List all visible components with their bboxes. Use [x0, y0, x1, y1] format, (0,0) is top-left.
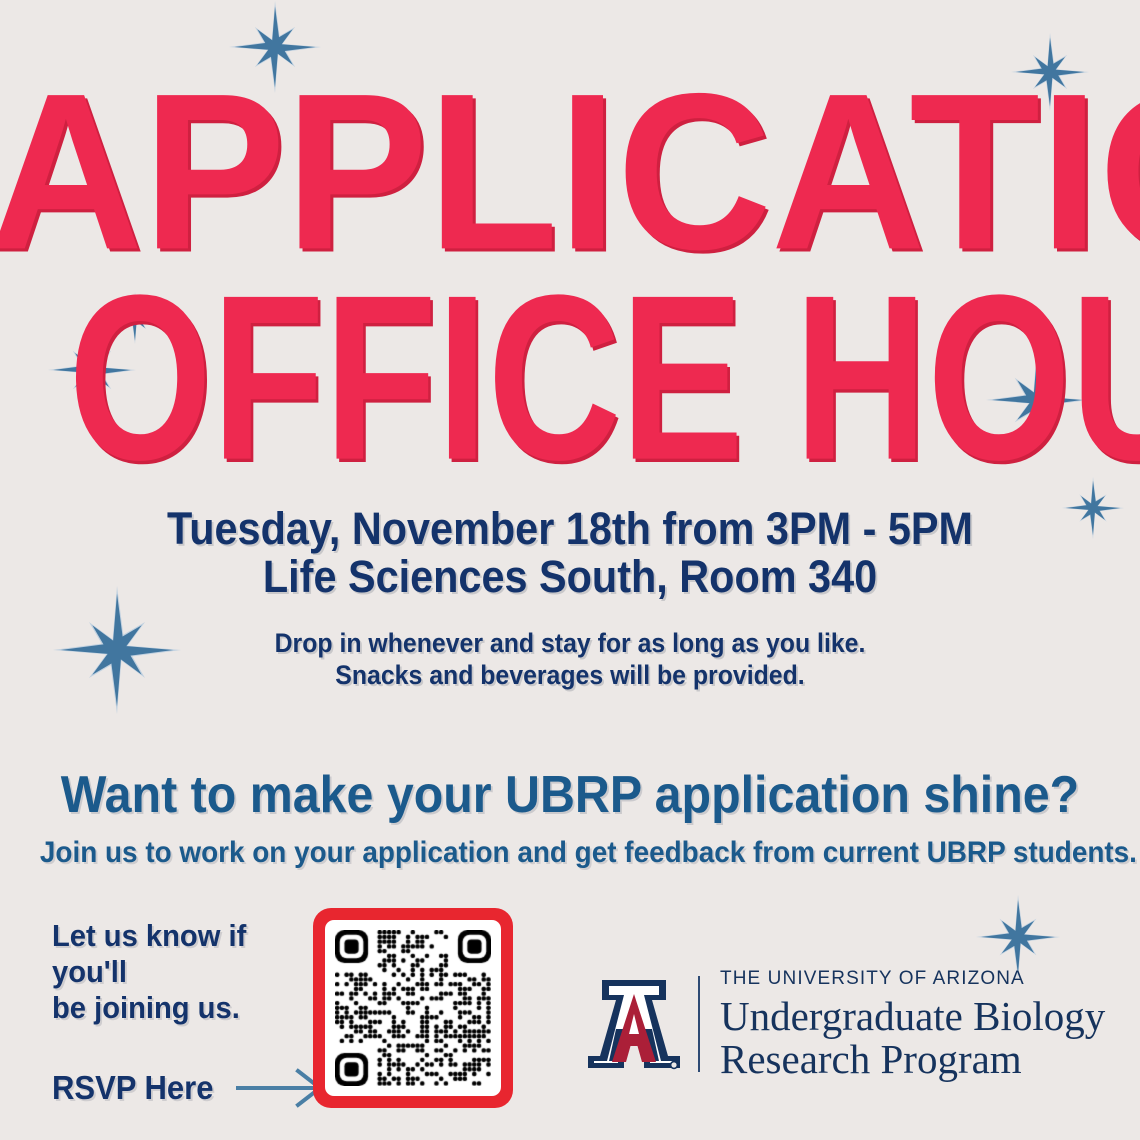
logo-program-line-1: Undergraduate Biology [720, 995, 1105, 1038]
logo-divider [698, 976, 700, 1072]
title-line-office-hours: OFFICE HOURS [68, 282, 1071, 475]
rsvp-note-line-2: be joining us. [52, 990, 306, 1026]
rsvp-cta-row[interactable]: RSVP Here [52, 1068, 322, 1108]
title-line-application: APPLICATION [0, 81, 1140, 264]
pitch-headline: Want to make your UBRP application shine… [40, 768, 1100, 823]
qr-code-icon [325, 920, 501, 1096]
event-notes: Drop in whenever and stay for as long as… [0, 628, 1140, 692]
logo-program-line-2: Research Program [720, 1038, 1105, 1081]
event-note-dropin: Drop in whenever and stay for as long as… [46, 628, 1095, 660]
qr-code-button[interactable] [313, 908, 513, 1108]
pitch-subline: Join us to work on your application and … [40, 833, 1100, 872]
pitch-block: Want to make your UBRP application shine… [0, 768, 1140, 823]
qr-code-modules [335, 930, 491, 1086]
event-note-snacks: Snacks and beverages will be provided. [46, 660, 1095, 692]
university-of-arizona-block-a-icon [588, 974, 680, 1074]
pitch-sub-block: Join us to work on your application and … [0, 833, 1140, 872]
ubrp-logo-lockup: THE UNIVERSITY OF ARIZONA Undergraduate … [588, 968, 1105, 1080]
rsvp-block: Let us know if you'll be joining us. RSV… [52, 918, 322, 1108]
poster-canvas: APPLICATION OFFICE HOURS Tuesday, Novemb… [0, 0, 1140, 1140]
logo-text-block: THE UNIVERSITY OF ARIZONA Undergraduate … [720, 968, 1105, 1080]
logo-university-name: THE UNIVERSITY OF ARIZONA [720, 968, 1105, 990]
eight-point-star-icon [976, 895, 1060, 979]
event-location: Life Sciences South, Room 340 [46, 553, 1095, 601]
rsvp-here-label: RSVP Here [52, 1069, 214, 1107]
event-details: Tuesday, November 18th from 3PM - 5PM Li… [0, 505, 1140, 600]
event-datetime: Tuesday, November 18th from 3PM - 5PM [46, 505, 1095, 553]
poster-title: APPLICATION [0, 86, 1140, 258]
poster-subtitle: OFFICE HOURS [0, 292, 1140, 464]
rsvp-note-line-1: Let us know if you'll [52, 918, 306, 990]
